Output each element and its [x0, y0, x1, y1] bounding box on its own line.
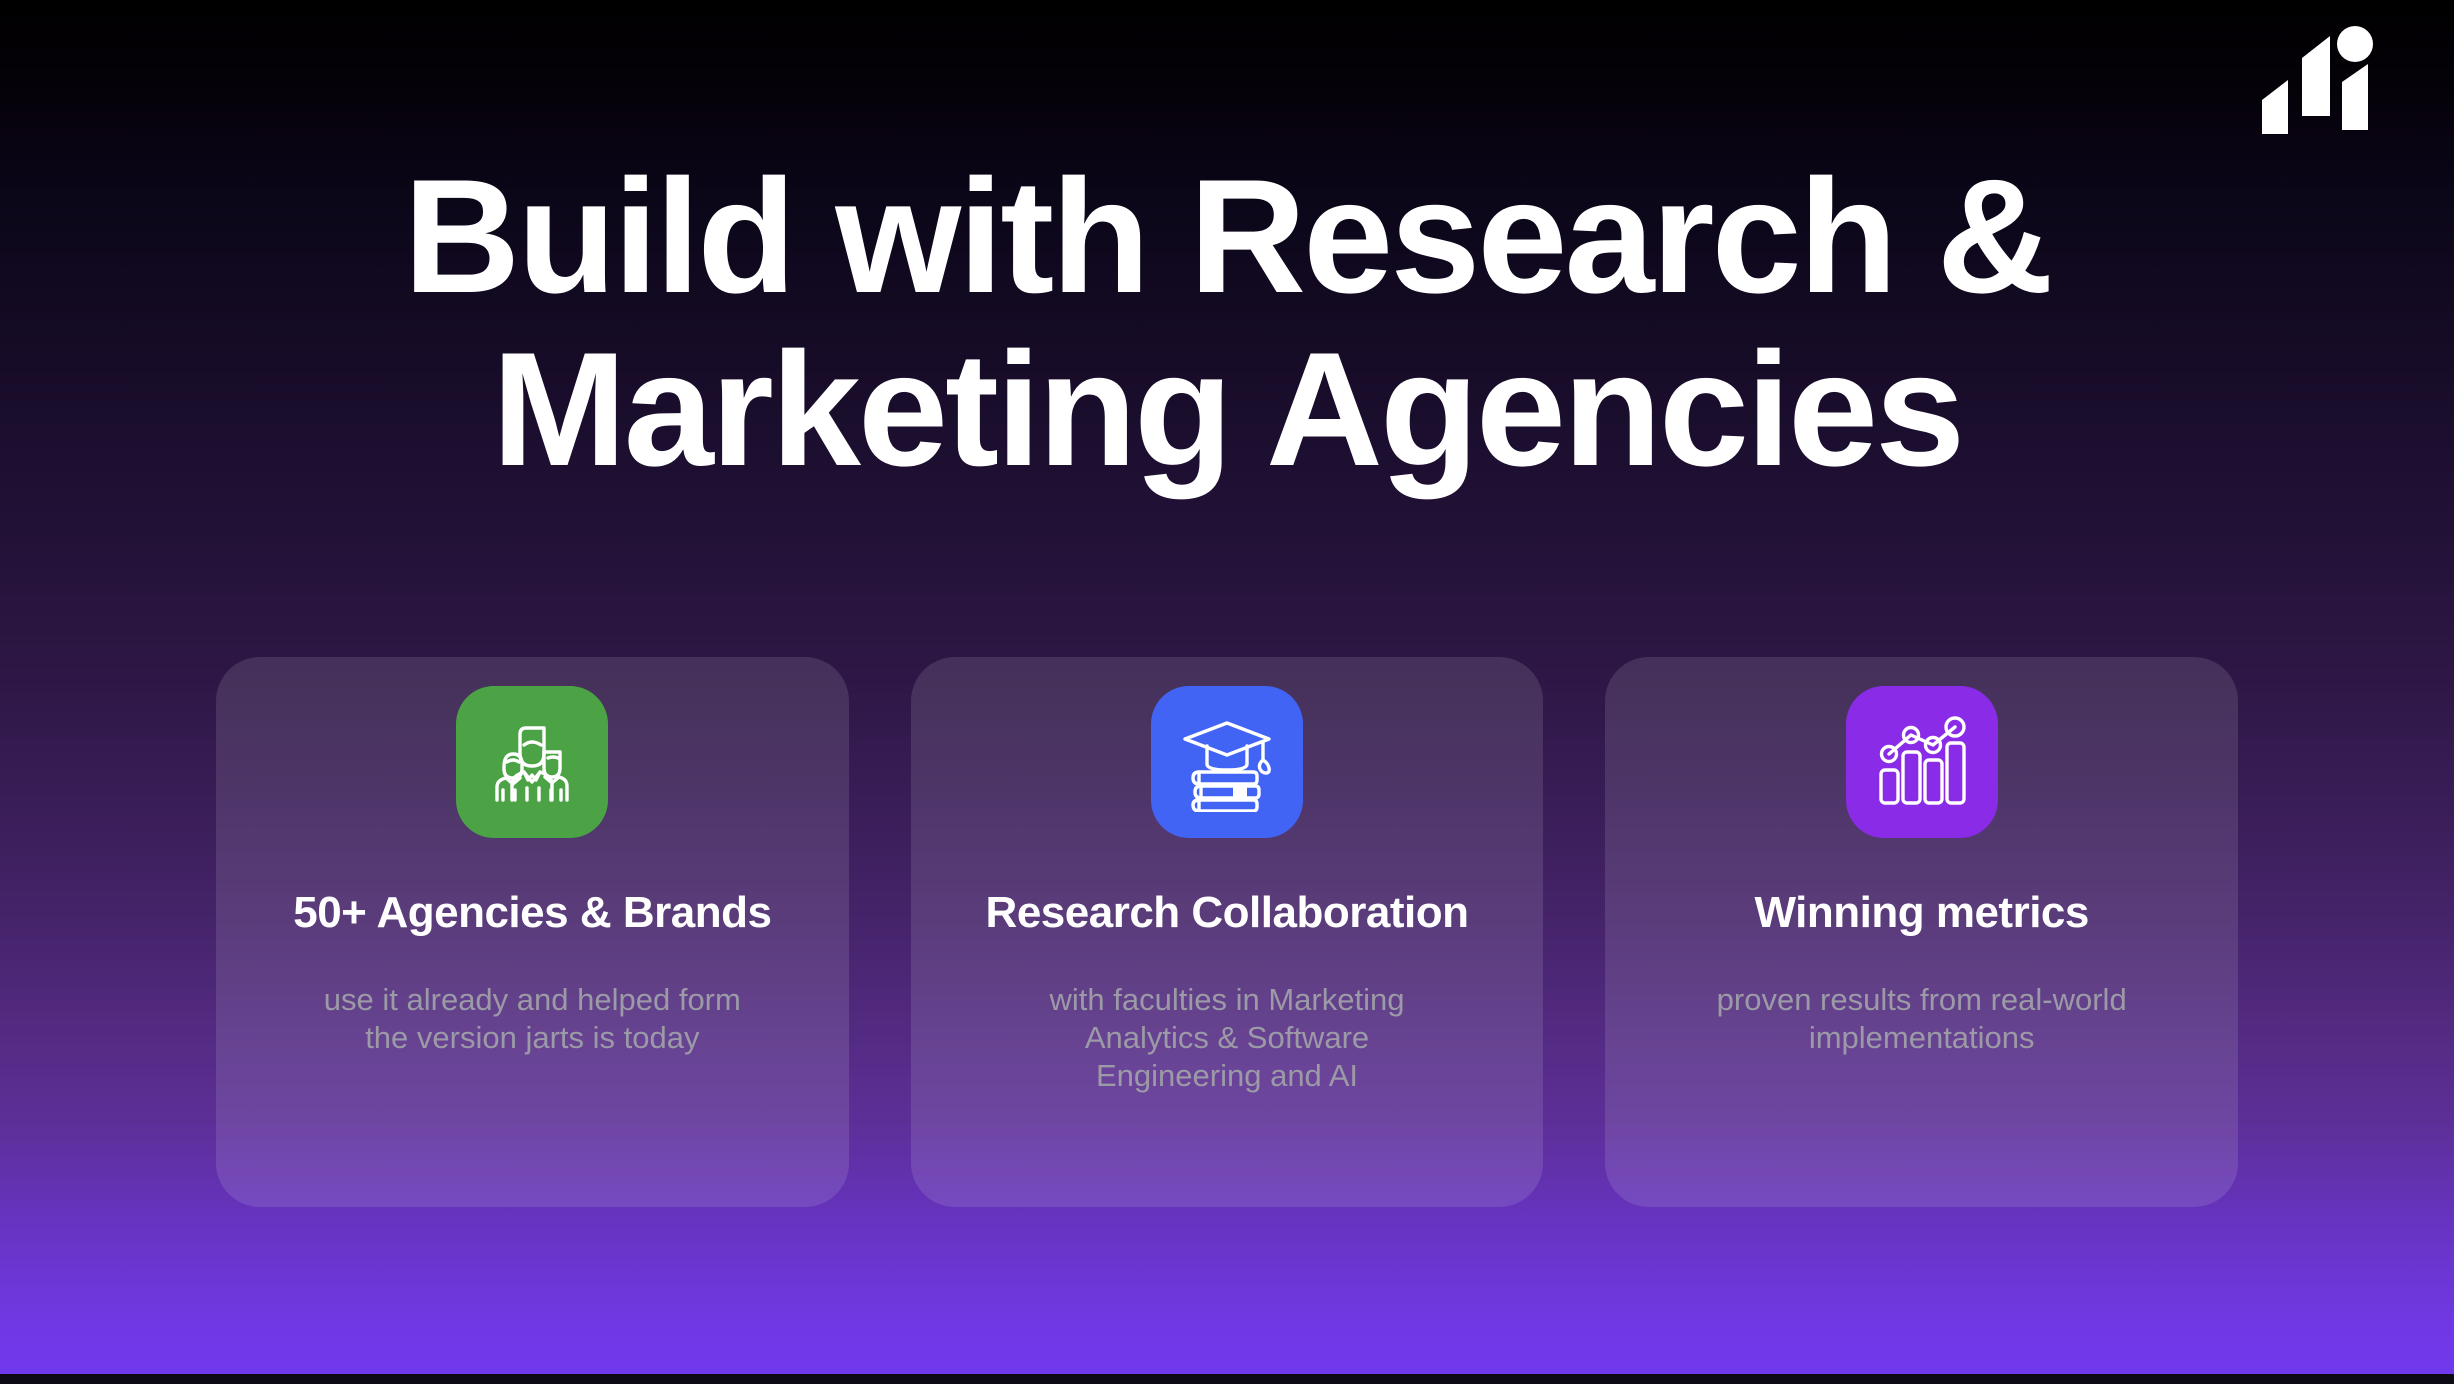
- card-description-line: use it already and helped form: [297, 981, 767, 1019]
- card-description-line: Engineering and AI: [992, 1057, 1462, 1095]
- card-description: proven results from real-world implement…: [1687, 981, 2157, 1057]
- headline-line-1: Build with Research &: [0, 150, 2454, 323]
- card-description-line: implementations: [1687, 1019, 2157, 1057]
- bar-chart-logo-icon: [2254, 22, 2384, 142]
- headline-line-2: Marketing Agencies: [0, 323, 2454, 496]
- growth-chart-icon: [1872, 712, 1972, 812]
- feature-card-metrics[interactable]: Winning metrics proven results from real…: [1605, 657, 2238, 1207]
- bottom-edge-strip: [0, 1374, 2454, 1384]
- card-description: use it already and helped form the versi…: [297, 981, 767, 1057]
- page-title: Build with Research & Marketing Agencies: [0, 150, 2454, 497]
- feature-card-research[interactable]: Research Collaboration with faculties in…: [911, 657, 1544, 1207]
- growth-chart-icon-tile: [1846, 686, 1998, 838]
- card-title: 50+ Agencies & Brands: [293, 889, 771, 937]
- card-description-line: Analytics & Software: [992, 1019, 1462, 1057]
- card-description-line: with faculties in Marketing: [992, 981, 1462, 1019]
- team-group-icon: [482, 712, 582, 812]
- card-description-line: the version jarts is today: [297, 1019, 767, 1057]
- card-title: Winning metrics: [1755, 889, 2089, 937]
- card-title: Research Collaboration: [986, 889, 1469, 937]
- card-description: with faculties in Marketing Analytics & …: [992, 981, 1462, 1095]
- slide-root: Build with Research & Marketing Agencies: [0, 0, 2454, 1384]
- graduation-books-icon-tile: [1151, 686, 1303, 838]
- team-group-icon-tile: [456, 686, 608, 838]
- feature-card-agencies[interactable]: 50+ Agencies & Brands use it already and…: [216, 657, 849, 1207]
- graduation-books-icon: [1177, 712, 1277, 812]
- feature-card-list: 50+ Agencies & Brands use it already and…: [216, 657, 2238, 1207]
- card-description-line: proven results from real-world: [1687, 981, 2157, 1019]
